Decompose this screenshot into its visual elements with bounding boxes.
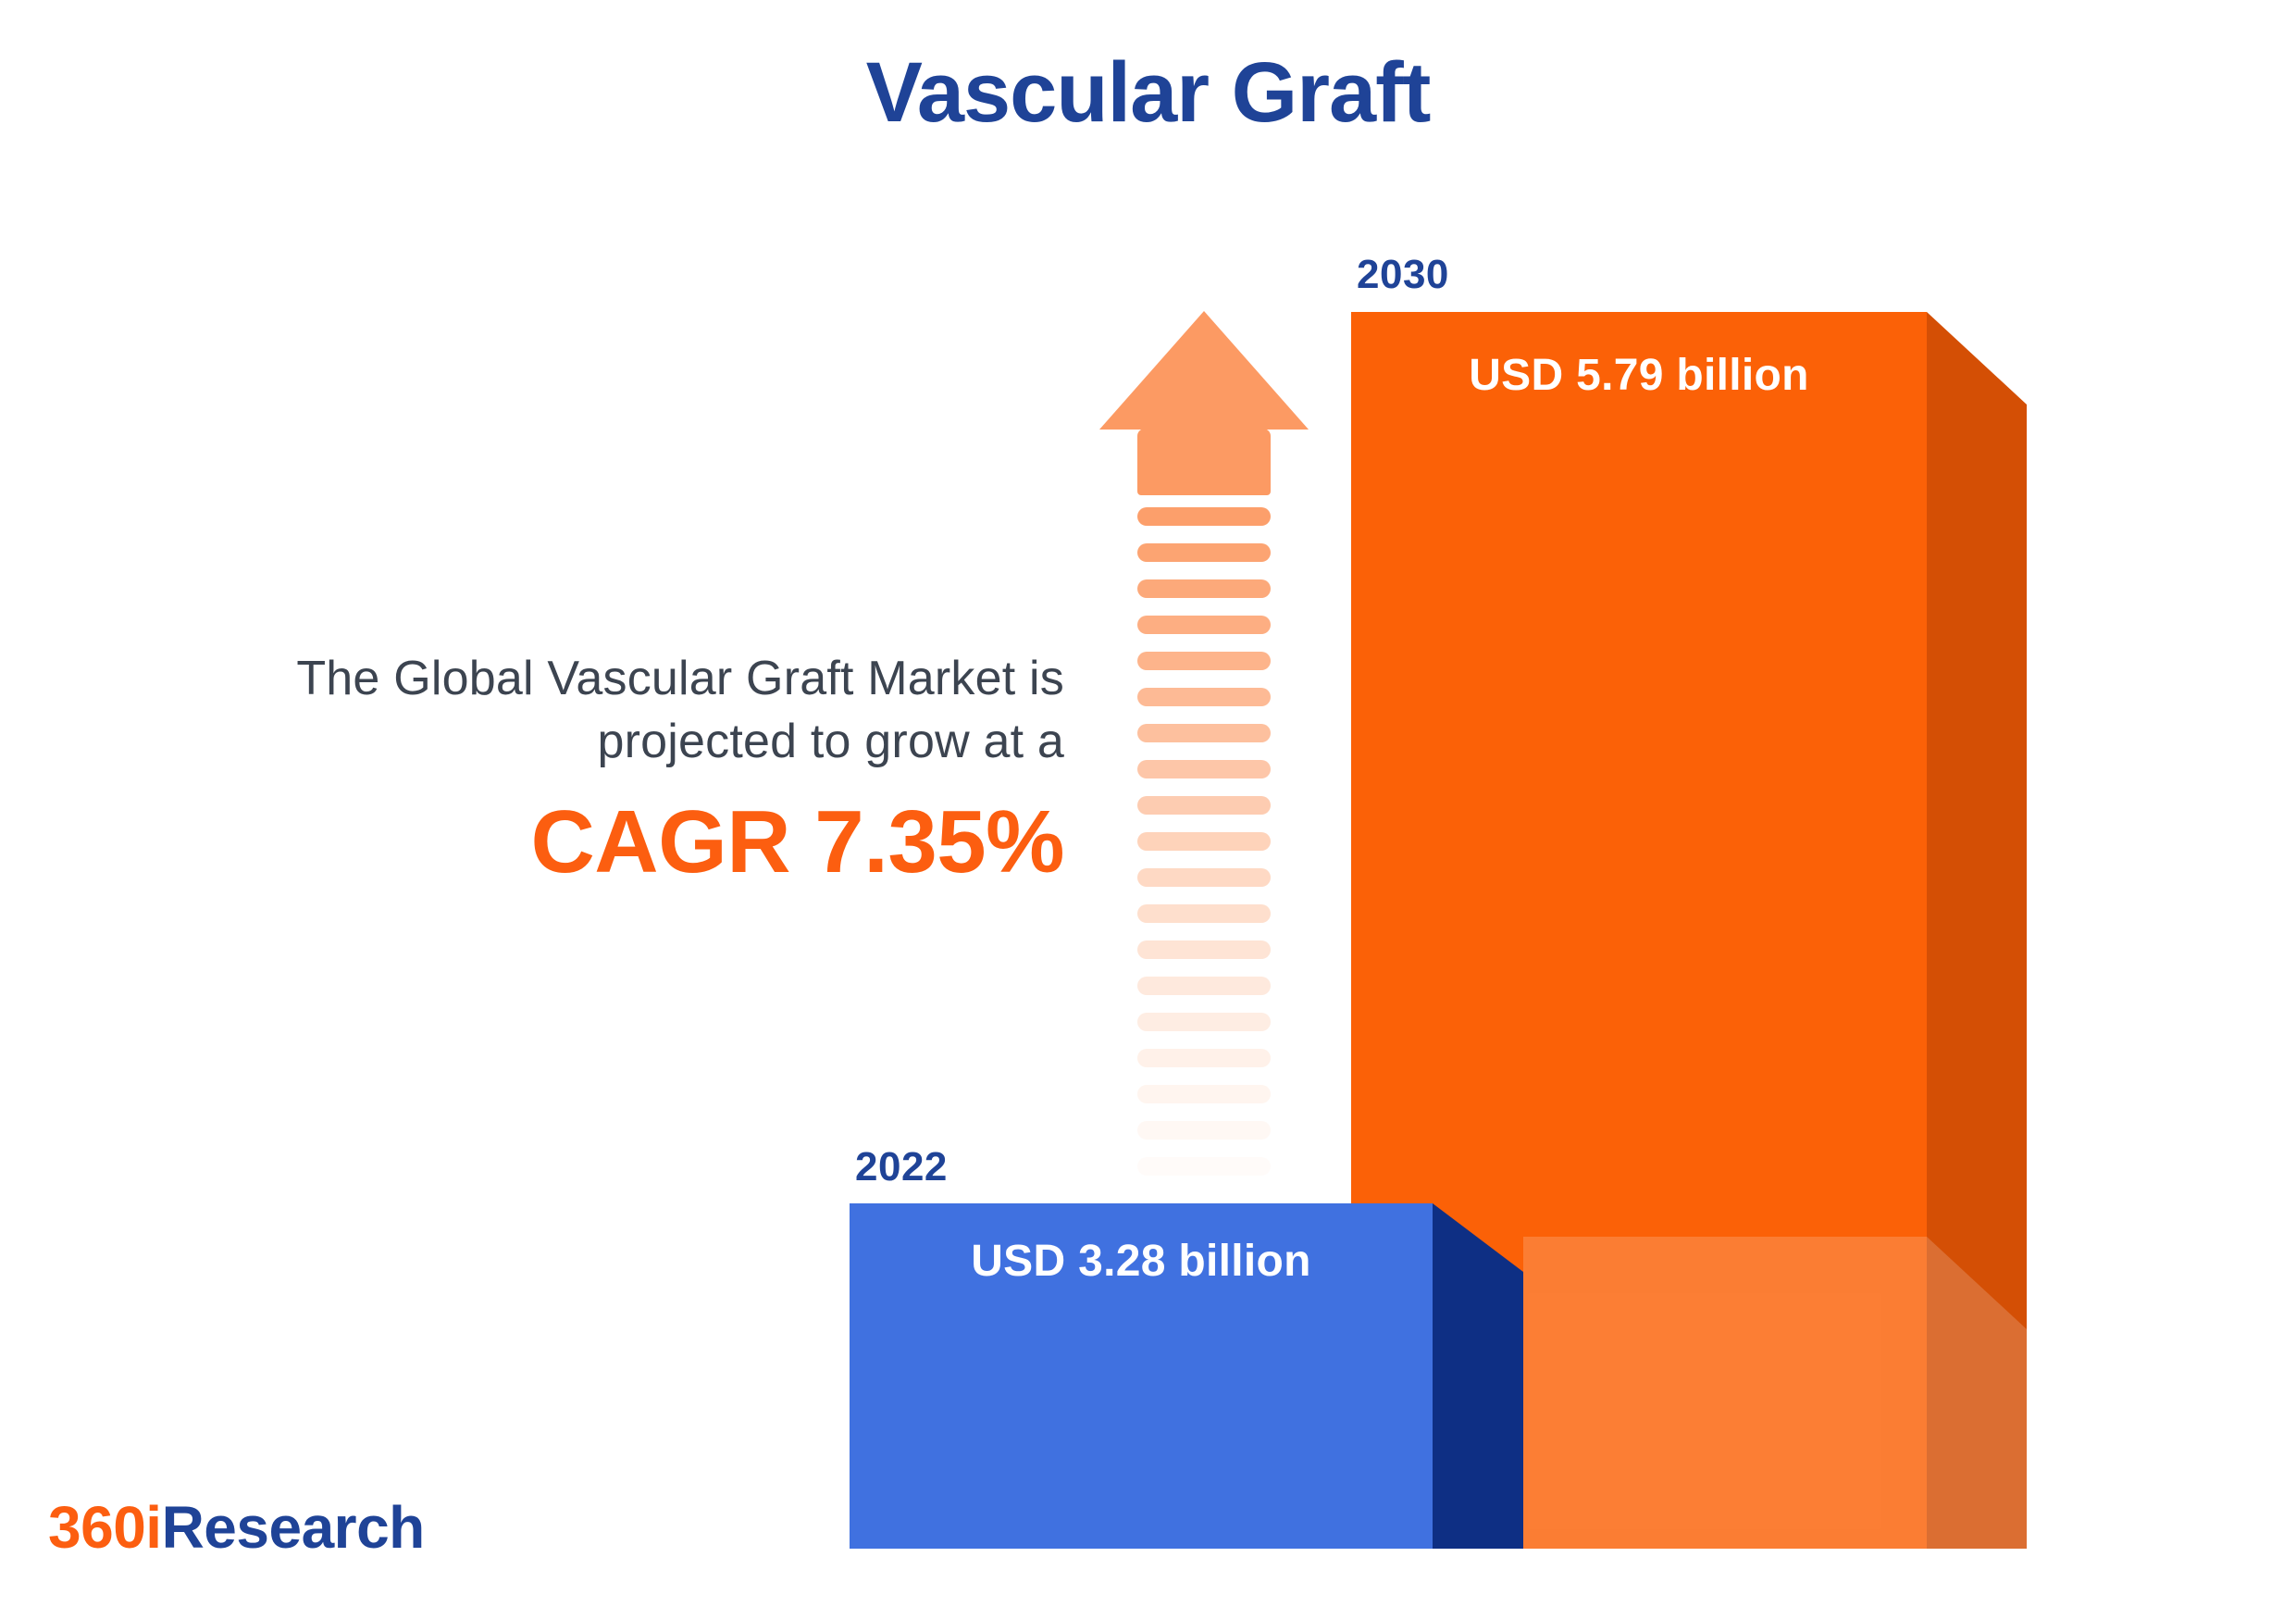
brand-logo-suffix: Research <box>162 1494 425 1561</box>
brand-logo-prefix: 360i <box>48 1494 162 1561</box>
bar-chart: 2030 USD 5.79 billion 2022 USD 3.28 bill… <box>0 0 2296 1619</box>
brand-logo[interactable]: 360iResearch <box>48 1493 425 1562</box>
infographic-canvas: Vascular Graft The Global Vascular Graft… <box>0 0 2296 1619</box>
bar-2022-year-label: 2022 <box>855 1144 948 1190</box>
bar-2030-value-label: USD 5.79 billion <box>1351 350 1927 401</box>
bar-2030-base-highlight-front <box>1523 1237 1927 1549</box>
bar-2022-value-label: USD 3.28 billion <box>850 1236 1433 1287</box>
bar-2030-year-label: 2030 <box>1357 252 1449 298</box>
